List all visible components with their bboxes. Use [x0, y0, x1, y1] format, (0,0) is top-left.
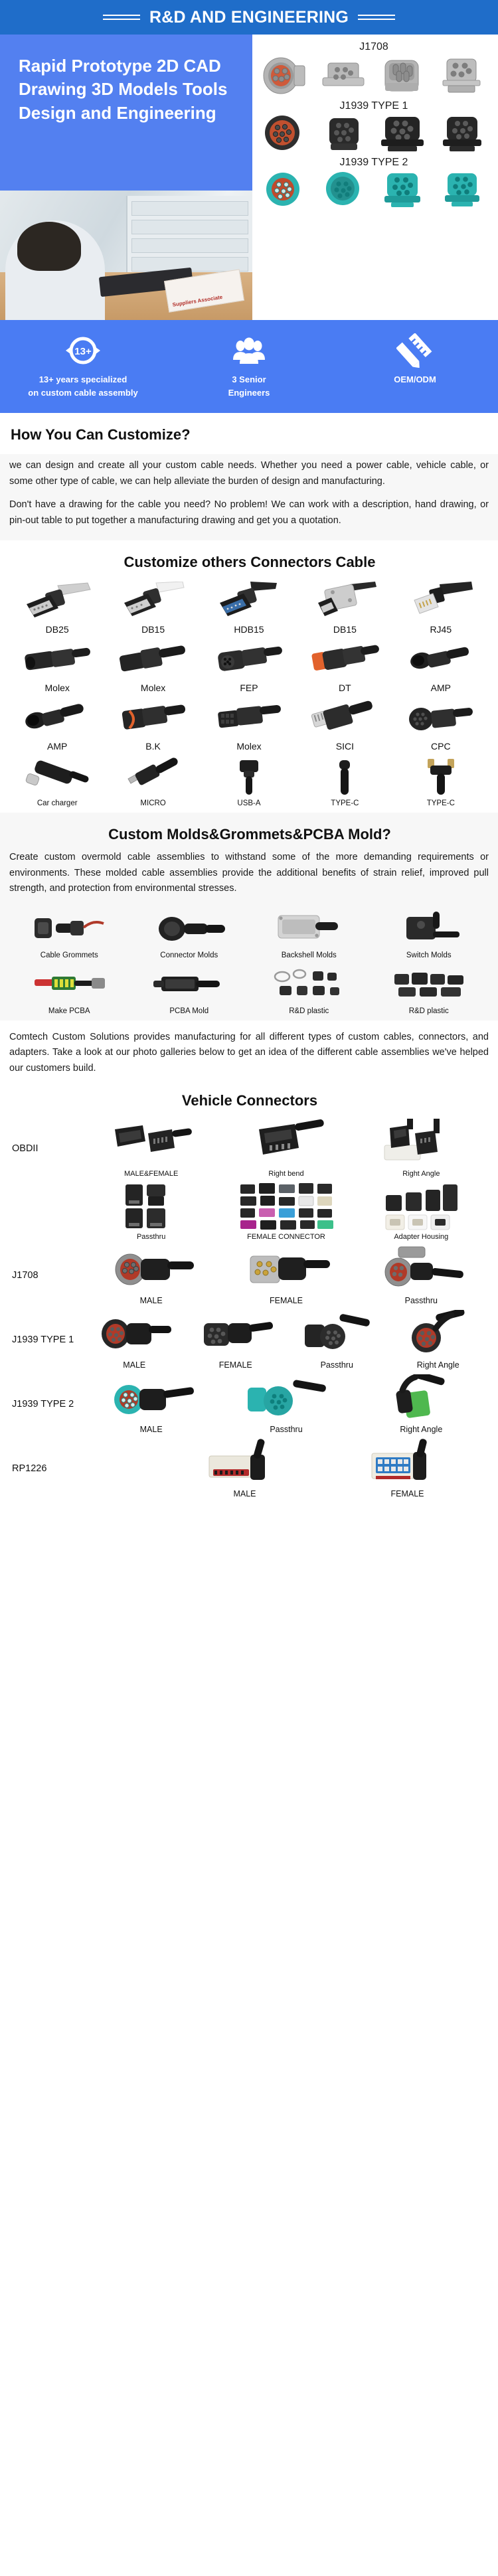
vehicle-item-label: MALE: [163, 1487, 326, 1498]
vehicle-item-label: Right Angle: [354, 1423, 489, 1434]
vehicle-item-j1939t1-male[interactable]: MALE: [84, 1309, 185, 1370]
section-solutions: Comtech Custom Solutions provides manufa…: [0, 1020, 498, 1088]
connector-label: DB15: [298, 621, 391, 635]
vehicle-item-label: Passthru: [218, 1423, 353, 1434]
connector-label: MICRO: [106, 797, 199, 807]
obdii-male-female-icon: [84, 1119, 218, 1168]
section-custom-molds: Custom Molds&Grommets&PCBA Mold? Create …: [0, 813, 498, 1020]
hero-connector-row: [254, 114, 494, 153]
vehicle-row-j1939-type1: J1939 TYPE 1 MALE: [9, 1307, 489, 1371]
customize-paragraph: Don't have a drawing for the cable you n…: [9, 497, 489, 528]
connector-j1708-female-panel-icon: [438, 55, 487, 96]
vehicle-item-rp1226-female[interactable]: FEMALE: [326, 1438, 489, 1498]
hero-group-title: J1939 TYPE 1: [254, 98, 494, 114]
hero-photo-engineer: Suppliers Associate: [0, 191, 252, 320]
mold-cell-backshell-molds[interactable]: Backshell Molds: [249, 905, 369, 961]
vehicle-row-label: RP1226: [9, 1463, 84, 1474]
vehicle-row-label: J1708: [9, 1270, 84, 1281]
connector-j1708-male-icon: [261, 55, 310, 96]
vehicle-item-label: MALE: [84, 1294, 218, 1305]
photo-cabinet: [126, 196, 252, 276]
connector-grid-row-3: AMP B.K: [9, 694, 489, 753]
connector-label: DB25: [11, 621, 104, 635]
connector-label: USB-A: [203, 797, 295, 807]
connector-j1939t1-male-icon: [261, 114, 310, 153]
rule-right-icon: [358, 15, 395, 20]
hero-headline-panel: Rapid Prototype 2D CAD Drawing 3D Models…: [0, 35, 252, 191]
connector-cell-molex-2[interactable]: Molex: [105, 636, 201, 694]
recycle-13plus-icon: 13+: [0, 332, 166, 369]
j1939t1-male-icon: [84, 1309, 185, 1358]
vehicle-item-j1708-male[interactable]: MALE: [84, 1245, 218, 1305]
connector-label: RJ45: [394, 621, 487, 635]
molds-heading: Custom Molds&Grommets&PCBA Mold?: [9, 822, 489, 850]
vehicle-item-label: MALE: [84, 1423, 218, 1434]
connector-cell-cpc[interactable]: CPC: [393, 694, 489, 753]
obdii-right-angle-icon: [354, 1119, 489, 1168]
connector-label: TYPE-C: [394, 797, 487, 807]
db15-icon: [106, 580, 199, 621]
molds-grid-row-2: Make PCBA PCBA Mold: [9, 961, 489, 1016]
type-c-screw-icon: [394, 756, 487, 797]
mold-label: R&D plastic: [250, 1005, 368, 1015]
hero-group-j1939-type1: J1939 TYPE 1: [254, 98, 494, 153]
connector-cell-molex-1[interactable]: Molex: [9, 636, 105, 694]
mold-label: Cable Grommets: [11, 949, 128, 959]
bk-connector-icon: [106, 697, 199, 738]
feature-badge-text: 13+: [74, 346, 92, 357]
people-group-icon: [166, 332, 332, 369]
mold-cell-rd-plastic-1[interactable]: R&D plastic: [249, 961, 369, 1016]
connector-label: Molex: [203, 738, 295, 752]
vehicle-item-passthru[interactable]: Passthru: [84, 1182, 218, 1241]
hero-group-title: J1708: [254, 39, 494, 55]
connector-cell-fep[interactable]: FEP: [201, 636, 297, 694]
mold-cell-pcba-mold[interactable]: PCBA Mold: [129, 961, 250, 1016]
customize-paragraph: we can design and create all your custom…: [9, 458, 489, 489]
vehicle-item-j1708-passthru[interactable]: Passthru: [354, 1245, 489, 1305]
db25-icon: [11, 580, 104, 621]
pencil-ruler-icon: [332, 332, 498, 369]
mold-label: Connector Molds: [131, 949, 248, 959]
other-connectors-heading: Customize others Connectors Cable: [9, 550, 489, 578]
rj45-icon: [394, 580, 487, 621]
vehicle-item-label: Passthru: [354, 1294, 489, 1305]
connector-label: SICI: [298, 738, 391, 752]
usb-a-icon: [203, 756, 295, 797]
vehicle-item-label: Passthru: [84, 1231, 218, 1241]
vehicle-item-label: Right bend: [218, 1168, 353, 1178]
customize-body: we can design and create all your custom…: [0, 454, 498, 540]
j1939t1-female-icon: [185, 1309, 287, 1358]
connector-label: CPC: [394, 738, 487, 752]
vehicle-item-j1939t2-male[interactable]: MALE: [84, 1374, 218, 1434]
feature-oem-odm: OEM/ODM: [332, 332, 498, 400]
fep-connector-icon: [203, 639, 295, 680]
rp1226-male-icon: [163, 1438, 326, 1487]
connector-label: Molex: [106, 680, 199, 693]
connector-cell-usb-a[interactable]: USB-A: [201, 753, 297, 809]
connector-grid-row-1: DB25 DB15: [9, 578, 489, 636]
feature-label: 3 Senior Engineers: [166, 369, 332, 400]
hero-headline: Rapid Prototype 2D CAD Drawing 3D Models…: [19, 54, 234, 125]
connector-j1939t1-panel-icon: [378, 114, 428, 153]
vehicle-item-label: FEMALE CONNECTOR: [218, 1231, 353, 1241]
connector-j1939t2-panel-icon: [379, 171, 427, 208]
hero-section: Rapid Prototype 2D CAD Drawing 3D Models…: [0, 35, 498, 320]
mold-label: Make PCBA: [11, 1005, 128, 1015]
vehicle-row-label: J1939 TYPE 2: [9, 1399, 84, 1409]
connector-label: TYPE-C: [298, 797, 391, 807]
hero-connector-row: [254, 55, 494, 96]
connector-cell-amp-2[interactable]: AMP: [9, 694, 105, 753]
vehicle-item-obdii-right-angle[interactable]: Right Angle: [354, 1119, 489, 1178]
j1939t1-passthru-icon: [286, 1309, 388, 1358]
connector-label: AMP: [11, 738, 104, 752]
connector-label: DT: [298, 680, 391, 693]
sici-connector-icon: [298, 697, 391, 738]
obdii-passthru-group-icon: [84, 1182, 218, 1231]
vehicle-item-obdii-right-bend[interactable]: Right bend: [218, 1119, 353, 1178]
hero-left-column: Rapid Prototype 2D CAD Drawing 3D Models…: [0, 35, 252, 320]
connector-label: FEP: [203, 680, 295, 693]
micro-usb-icon: [106, 756, 199, 797]
connector-cell-db15[interactable]: DB15: [105, 578, 201, 636]
section-vehicle-connectors: Vehicle Connectors OBDII MALE&FEMA: [0, 1088, 498, 1504]
vehicle-item-j1939t2-right-angle[interactable]: Right Angle: [354, 1374, 489, 1434]
connector-cell-bk[interactable]: B.K: [105, 694, 201, 753]
customize-heading: How You Can Customize?: [9, 422, 489, 450]
vehicle-row-j1708: J1708 MALE: [9, 1242, 489, 1307]
connector-j1939t2-female-icon: [321, 171, 369, 208]
vehicle-item-label: Right Angle: [388, 1358, 489, 1370]
vehicle-item-j1939t2-passthru[interactable]: Passthru: [218, 1374, 353, 1434]
j1939t1-right-angle-icon: [388, 1309, 489, 1358]
vehicle-item-obdii-male-female[interactable]: MALE&FEMALE: [84, 1119, 218, 1178]
features-strip: 13+ 13+ years specialized on custom cabl…: [0, 320, 498, 413]
connector-cell-rj45[interactable]: RJ45: [393, 578, 489, 636]
vehicle-row-obdii: OBDII MALE&FEMALE: [9, 1116, 489, 1179]
connector-label: Car charger: [11, 797, 104, 807]
hero-group-j1708: J1708: [254, 39, 494, 96]
connector-molds-icon: [131, 908, 248, 949]
car-charger-icon: [11, 756, 104, 797]
mold-label: Backshell Molds: [250, 949, 368, 959]
connector-cell-hdb15[interactable]: HDB15: [201, 578, 297, 636]
vehicle-item-label: Passthru: [286, 1358, 388, 1370]
vehicle-item-label: MALE&FEMALE: [84, 1168, 218, 1178]
connector-cell-molex-3[interactable]: Molex: [201, 694, 297, 753]
feature-senior-engineers: 3 Senior Engineers: [166, 332, 332, 400]
mold-cell-connector-molds[interactable]: Connector Molds: [129, 905, 250, 961]
connector-grid-row-2: Molex Molex: [9, 636, 489, 694]
backshell-molds-icon: [250, 908, 368, 949]
vehicle-item-j1939t1-passthru[interactable]: Passthru: [286, 1309, 388, 1370]
vehicle-item-label: Right Angle: [354, 1168, 489, 1178]
j1708-female-icon: [218, 1245, 353, 1294]
vehicle-item-label: FEMALE: [185, 1358, 287, 1370]
header-title: R&D AND ENGINEERING: [149, 8, 349, 27]
mold-label: R&D plastic: [371, 1005, 488, 1015]
connector-j1939t1-female-icon: [320, 114, 369, 153]
molds-paragraph: Create custom overmold cable assemblies …: [9, 850, 489, 896]
connector-cell-type-c-2[interactable]: TYPE-C: [393, 753, 489, 809]
feature-years-experience: 13+ 13+ years specialized on custom cabl…: [0, 332, 166, 400]
vehicle-row-rp1226: RP1226 MALE: [9, 1435, 489, 1500]
db15-grey-icon: [298, 580, 391, 621]
type-c-icon: [298, 756, 391, 797]
vehicle-heading: Vehicle Connectors: [9, 1088, 489, 1116]
mold-cell-switch-molds[interactable]: Switch Molds: [369, 905, 489, 961]
connector-cell-amp-1[interactable]: AMP: [393, 636, 489, 694]
hero-group-j1939-type2: J1939 TYPE 2: [254, 154, 494, 208]
connector-j1939t2-male-icon: [262, 171, 309, 208]
vehicle-item-label: FEMALE: [326, 1487, 489, 1498]
molex-connector-icon: [11, 639, 104, 680]
mold-cell-make-pcba[interactable]: Make PCBA: [9, 961, 129, 1016]
mold-cell-rd-plastic-2[interactable]: R&D plastic: [369, 961, 489, 1016]
vehicle-row-label: OBDII: [9, 1143, 84, 1154]
connector-grid-row-4: Car charger MICRO: [9, 753, 489, 809]
connector-j1708-male-large-icon: [378, 55, 428, 96]
molex-connector-icon: [203, 697, 295, 738]
connector-label: B.K: [106, 738, 199, 752]
photo-person-hair: [17, 222, 81, 271]
vehicle-item-j1708-female[interactable]: FEMALE: [218, 1245, 353, 1305]
vehicle-item-adapter-housing[interactable]: Adapter Housing: [354, 1182, 489, 1241]
vehicle-item-j1939t1-right-angle[interactable]: Right Angle: [388, 1309, 489, 1370]
cable-grommets-icon: [11, 908, 128, 949]
molds-grid-row-1: Cable Grommets Connector Molds: [9, 905, 489, 961]
connector-cell-car-charger[interactable]: Car charger: [9, 753, 105, 809]
vehicle-row-obdii-secondary: Passthru: [9, 1179, 489, 1242]
connector-cell-db15-grey[interactable]: DB15: [297, 578, 392, 636]
connector-j1708-female-flange-icon: [320, 55, 369, 96]
switch-molds-icon: [371, 908, 488, 949]
j1939t2-right-angle-icon: [354, 1374, 489, 1423]
female-connector-group-icon: [218, 1182, 353, 1231]
connector-label: Molex: [11, 680, 104, 693]
hero-right-column: J1708: [252, 35, 498, 320]
solutions-paragraph: Comtech Custom Solutions provides manufa…: [9, 1030, 489, 1076]
mold-cell-cable-grommets[interactable]: Cable Grommets: [9, 905, 129, 961]
j1939t2-passthru-icon: [218, 1374, 353, 1423]
feature-label: 13+ years specialized on custom cable as…: [0, 369, 166, 400]
rd-plastic-assemblies-icon: [371, 963, 488, 1005]
connector-cell-sici[interactable]: SICI: [297, 694, 392, 753]
section-other-connectors: Customize others Connectors Cable DB25: [0, 540, 498, 813]
product-detail-page: R&D AND ENGINEERING Rapid Prototype 2D C…: [0, 0, 498, 1504]
connector-cell-dt[interactable]: DT: [297, 636, 392, 694]
section-how-to-customize: How You Can Customize?: [0, 413, 498, 454]
vehicle-item-label: FEMALE: [218, 1294, 353, 1305]
connector-j1939t2-flange-icon: [438, 171, 486, 208]
vehicle-row-label: J1939 TYPE 1: [9, 1334, 84, 1345]
section-header-band: R&D AND ENGINEERING: [0, 0, 498, 35]
hero-group-title: J1939 TYPE 2: [254, 154, 494, 171]
connector-label: HDB15: [203, 621, 295, 635]
vehicle-row-j1939-type2: J1939 TYPE 2 MALE: [9, 1371, 489, 1435]
make-pcba-icon: [11, 963, 128, 1005]
connector-cell-micro[interactable]: MICRO: [105, 753, 201, 809]
connector-label: AMP: [394, 680, 487, 693]
vehicle-item-female-connector[interactable]: FEMALE CONNECTOR: [218, 1182, 353, 1241]
j1708-male-icon: [84, 1245, 218, 1294]
rp1226-female-icon: [326, 1438, 489, 1487]
amp-connector-icon: [11, 697, 104, 738]
cpc-connector-icon: [394, 697, 487, 738]
connector-cell-type-c-1[interactable]: TYPE-C: [297, 753, 392, 809]
dt-connector-icon: [298, 639, 391, 680]
connector-cell-db25[interactable]: DB25: [9, 578, 105, 636]
vehicle-item-rp1226-male[interactable]: MALE: [163, 1438, 326, 1498]
j1708-passthru-icon: [354, 1245, 489, 1294]
pcba-mold-icon: [131, 963, 248, 1005]
hdb15-icon: [203, 580, 295, 621]
feature-label: OEM/ODM: [332, 369, 498, 386]
vehicle-item-j1939t1-female[interactable]: FEMALE: [185, 1309, 287, 1370]
mold-label: PCBA Mold: [131, 1005, 248, 1015]
mold-label: Switch Molds: [371, 949, 488, 959]
amp-connector-icon: [394, 639, 487, 680]
adapter-housing-group-icon: [354, 1182, 489, 1231]
vehicle-item-label: Adapter Housing: [354, 1231, 489, 1241]
connector-label: DB15: [106, 621, 199, 635]
hero-connector-row: [254, 171, 494, 208]
rd-plastic-parts-icon: [250, 963, 368, 1005]
connector-j1939t1-flange-icon: [438, 114, 487, 153]
rule-left-icon: [103, 15, 140, 20]
molex-connector-icon: [106, 639, 199, 680]
obdii-right-bend-icon: [218, 1119, 353, 1168]
j1939t2-male-icon: [84, 1374, 218, 1423]
vehicle-item-label: MALE: [84, 1358, 185, 1370]
